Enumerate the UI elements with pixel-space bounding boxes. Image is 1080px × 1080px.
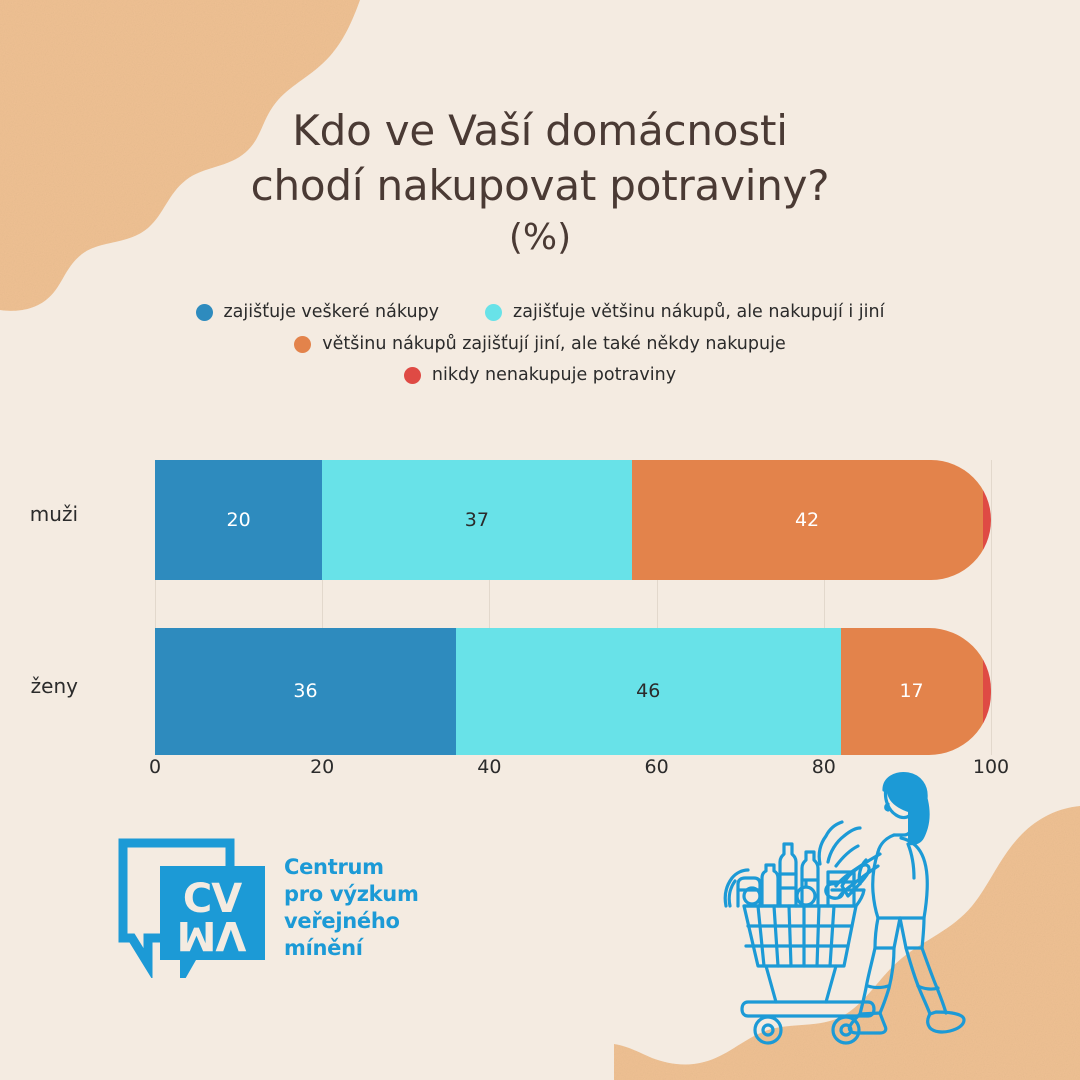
legend-row: většinu nákupů zajišťují jiní, ale také … [0,336,1080,354]
bar-segment[interactable] [983,460,991,580]
legend-swatch-icon [485,304,502,321]
cvvm-logo-text: Centrum pro výzkum veřejného mínění [284,838,419,962]
x-axis-tick-label: 0 [149,756,161,778]
shopping-cart-illustration-icon [708,766,1068,1056]
legend-item-never-shops[interactable]: nikdy nenakupuje potraviny [404,367,676,385]
category-label: muži [30,502,78,526]
x-axis-tick-label: 40 [477,756,501,778]
bar-segment-value: 17 [899,682,923,701]
x-axis-tick-label: 20 [310,756,334,778]
bar-segment[interactable]: 17 [841,628,983,755]
title-unit: (%) [0,215,1080,260]
svg-text:VM: VM [178,912,247,958]
plot-area: 203742364617 [155,460,991,755]
cvvm-logo-mark-icon: CV VM [118,838,270,978]
bar-segment[interactable]: 20 [155,460,322,580]
stacked-bar[interactable]: 203742 [155,460,991,580]
legend-row: zajišťuje veškeré nákupy zajišťuje větši… [0,304,1080,322]
legend-swatch-icon [294,336,311,353]
bar-segment-value: 20 [227,511,251,530]
legend-item-label: zajišťuje většinu nákupů, ale nakupují i… [513,304,884,322]
stacked-bar-chart: 203742364617 mužiženy 020406080100 [0,452,1080,797]
chart-title: Kdo ve Vaší domácnosti chodí nakupovat p… [0,104,1080,260]
legend-item-label: většinu nákupů zajišťují jiní, ale také … [322,336,785,354]
title-line-2: chodí nakupovat potraviny? [0,159,1080,214]
title-line-1: Kdo ve Vaší domácnosti [0,104,1080,159]
bar-segment-value: 37 [465,511,489,530]
logo-text-line-3: veřejného [284,908,419,935]
bar-segment[interactable]: 42 [632,460,983,580]
stacked-bar[interactable]: 364617 [155,628,991,755]
bar-segment-value: 36 [293,682,317,701]
bar-segment[interactable]: 36 [155,628,456,755]
x-axis-tick-label: 60 [645,756,669,778]
bar-segment-value: 42 [795,511,819,530]
bar-segment[interactable]: 37 [322,460,631,580]
legend-item-most-purchases[interactable]: zajišťuje většinu nákupů, ale nakupují i… [485,304,884,322]
bar-segment[interactable]: 46 [456,628,841,755]
legend-swatch-icon [196,304,213,321]
cvvm-logo: CV VM Centrum pro výzkum veřejného míněn… [118,838,448,978]
legend-item-label: zajišťuje veškeré nákupy [224,304,440,322]
gridline [991,460,992,755]
infographic-canvas: Kdo ve Vaší domácnosti chodí nakupovat p… [0,0,1080,1080]
logo-text-line-2: pro výzkum [284,881,419,908]
legend-item-label: nikdy nenakupuje potraviny [432,367,676,385]
legend-swatch-icon [404,367,421,384]
bar-segment[interactable] [983,628,991,755]
legend-item-others-mostly[interactable]: většinu nákupů zajišťují jiní, ale také … [294,336,785,354]
chart-legend: zajišťuje veškeré nákupy zajišťuje větši… [0,304,1080,399]
bar-row: 364617 [155,628,991,755]
legend-row: nikdy nenakupuje potraviny [0,367,1080,385]
bar-row: 203742 [155,460,991,580]
legend-item-all-purchases[interactable]: zajišťuje veškeré nákupy [196,304,440,322]
category-label: ženy [31,674,78,698]
bar-segment-value: 46 [636,682,660,701]
logo-text-line-1: Centrum [284,854,419,881]
logo-text-line-4: mínění [284,935,419,962]
